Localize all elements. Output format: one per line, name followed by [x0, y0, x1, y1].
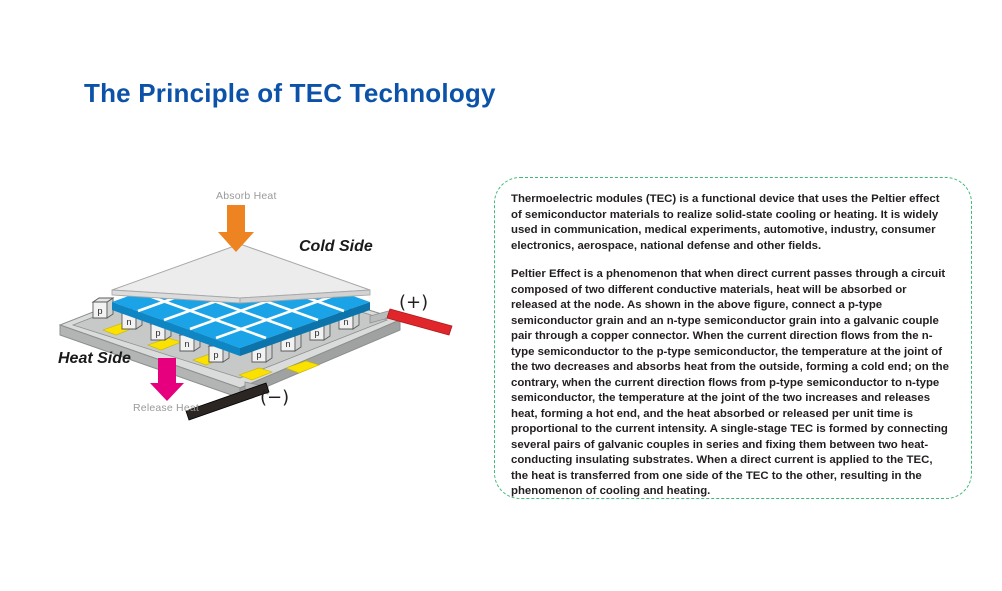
negative-terminal-label: (−) — [260, 387, 289, 408]
svg-text:n: n — [184, 339, 189, 349]
info-panel: Thermoelectric modules (TEC) is a functi… — [494, 177, 972, 499]
cold-side-label: Cold Side — [299, 238, 373, 256]
tec-module-diagram: p n p n p p n p n — [40, 170, 490, 440]
svg-text:p: p — [97, 306, 102, 316]
svg-text:p: p — [155, 328, 160, 338]
release-heat-label: Release Heat — [133, 402, 199, 414]
svg-text:n: n — [285, 339, 290, 349]
page-title: The Principle of TEC Technology — [84, 78, 496, 109]
svg-text:p: p — [256, 350, 261, 360]
absorb-heat-arrow-icon — [218, 205, 254, 252]
svg-text:p: p — [314, 328, 319, 338]
svg-text:p: p — [213, 350, 218, 360]
info-paragraph-1: Thermoelectric modules (TEC) is a functi… — [511, 192, 949, 254]
page-root: The Principle of TEC Technology — [0, 0, 1002, 591]
info-paragraph-2: Peltier Effect is a phenomenon that when… — [511, 267, 949, 500]
heat-side-label: Heat Side — [58, 350, 131, 368]
positive-terminal-label: (+) — [399, 292, 428, 313]
absorb-heat-label: Absorb Heat — [216, 190, 277, 202]
svg-text:n: n — [126, 317, 131, 327]
